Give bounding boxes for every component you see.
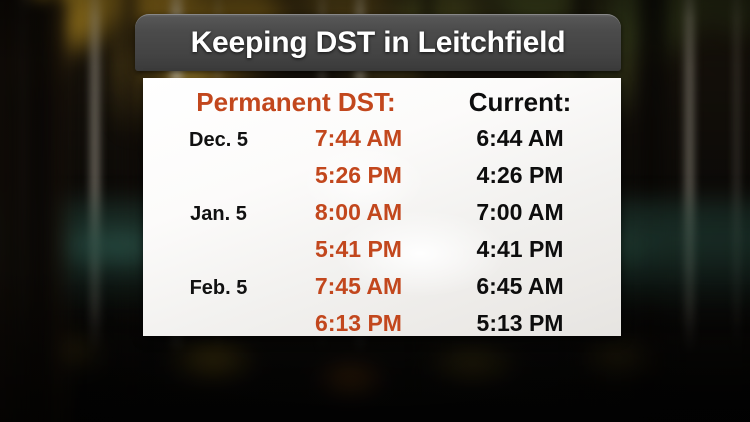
row-current: 4:41 PM (436, 236, 604, 263)
row-permanent: 5:26 PM (281, 162, 436, 189)
table-row: Jan. 5 8:00 AM 7:00 AM (156, 199, 608, 236)
row-current: 6:45 AM (436, 273, 604, 300)
row-permanent: 7:44 AM (281, 125, 436, 152)
row-permanent: 6:13 PM (281, 310, 436, 336)
row-current: 7:00 AM (436, 199, 604, 226)
table-row: 5:41 PM 4:41 PM (156, 236, 608, 273)
row-current: 4:26 PM (436, 162, 604, 189)
row-date: Dec. 5 (156, 129, 281, 152)
row-current: 6:44 AM (436, 125, 604, 152)
table-row: 5:26 PM 4:26 PM (156, 162, 608, 199)
dst-comparison-panel: Permanent DST: Current: Dec. 5 7:44 AM 6… (143, 78, 621, 336)
table-row: Dec. 5 7:44 AM 6:44 AM (156, 125, 608, 162)
column-header-permanent-dst: Permanent DST: (156, 87, 436, 118)
row-permanent: 7:45 AM (281, 273, 436, 300)
table-header-row: Permanent DST: Current: (156, 87, 608, 125)
page-title: Keeping DST in Leitchfield (191, 26, 566, 60)
row-date: Feb. 5 (156, 277, 281, 300)
graphic-title-bar: Keeping DST in Leitchfield (135, 14, 621, 71)
row-permanent: 8:00 AM (281, 199, 436, 226)
row-permanent: 5:41 PM (281, 236, 436, 263)
table-row: Feb. 5 7:45 AM 6:45 AM (156, 273, 608, 310)
row-current: 5:13 PM (436, 310, 604, 336)
weather-graphic: Keeping DST in Leitchfield Permanent DST… (143, 14, 621, 336)
table-row: 6:13 PM 5:13 PM (156, 310, 608, 336)
row-date: Jan. 5 (156, 203, 281, 226)
column-header-current: Current: (436, 87, 604, 118)
